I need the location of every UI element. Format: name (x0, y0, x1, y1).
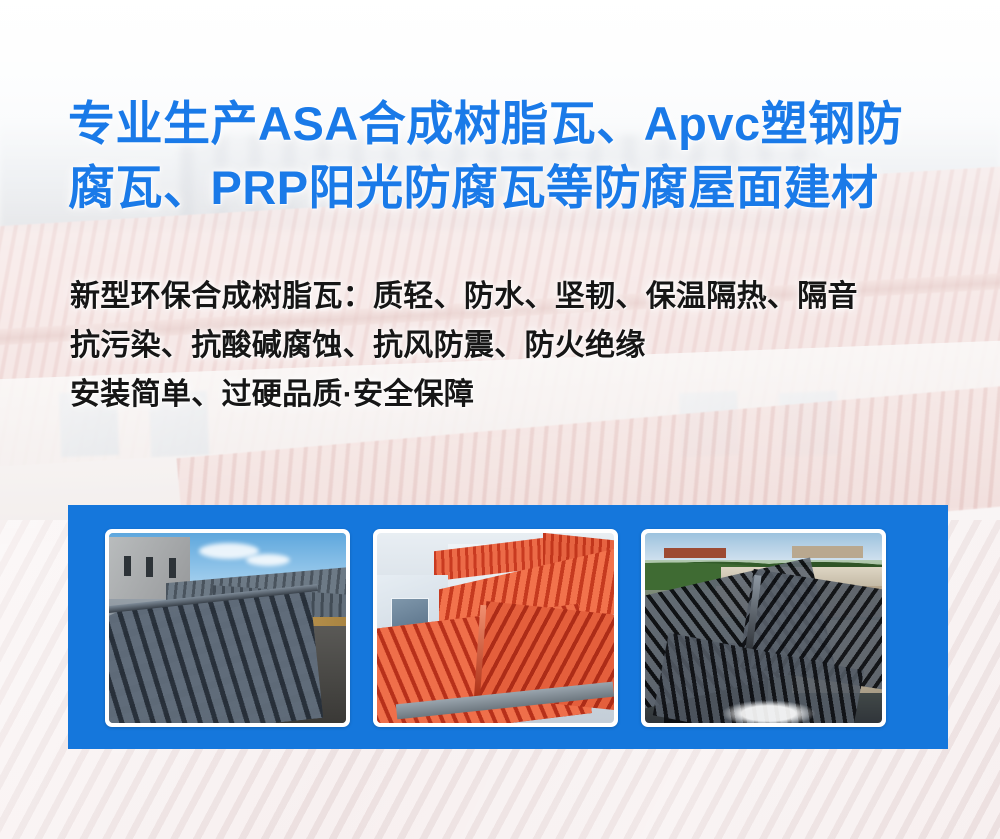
subtitle-line-1: 新型环保合成树脂瓦：质轻、防水、坚韧、保温隔热、隔音 (70, 272, 960, 321)
photo-gallery-panel (68, 505, 948, 749)
photo-window (169, 558, 176, 578)
headline-line-2: 腐瓦、PRP阳光防腐瓦等防腐屋面建材 (68, 156, 948, 220)
photo-gallery-row (105, 529, 886, 727)
promo-banner: 专业生产ASA合成树脂瓦、Apvc塑钢防 腐瓦、PRP阳光防腐瓦等防腐屋面建材 … (0, 0, 1000, 839)
black-resin-tile-roof-image (645, 533, 882, 723)
subtitle-line-3: 安装简单、过硬品质·安全保障 (70, 370, 960, 419)
gallery-photo-red-roof[interactable] (373, 529, 618, 727)
headline: 专业生产ASA合成树脂瓦、Apvc塑钢防 腐瓦、PRP阳光防腐瓦等防腐屋面建材 (68, 92, 948, 220)
gallery-photo-black-roof[interactable] (641, 529, 886, 727)
banner-content: 专业生产ASA合成树脂瓦、Apvc塑钢防 腐瓦、PRP阳光防腐瓦等防腐屋面建材 … (0, 0, 1000, 839)
photo-cloud (246, 554, 290, 566)
photo-window (124, 556, 131, 576)
red-resin-tile-roof-image (377, 533, 614, 723)
subtitle-block: 新型环保合成树脂瓦：质轻、防水、坚韧、保温隔热、隔音 抗污染、抗酸碱腐蚀、抗风防… (70, 272, 960, 419)
headline-line-1: 专业生产ASA合成树脂瓦、Apvc塑钢防 (68, 92, 948, 156)
gallery-photo-grey-roof[interactable] (105, 529, 350, 727)
photo-lens-glare (721, 700, 816, 723)
photo-window (146, 557, 153, 577)
subtitle-line-2: 抗污染、抗酸碱腐蚀、抗风防震、防火绝缘 (70, 321, 960, 370)
grey-resin-tile-roof-image (109, 533, 346, 723)
